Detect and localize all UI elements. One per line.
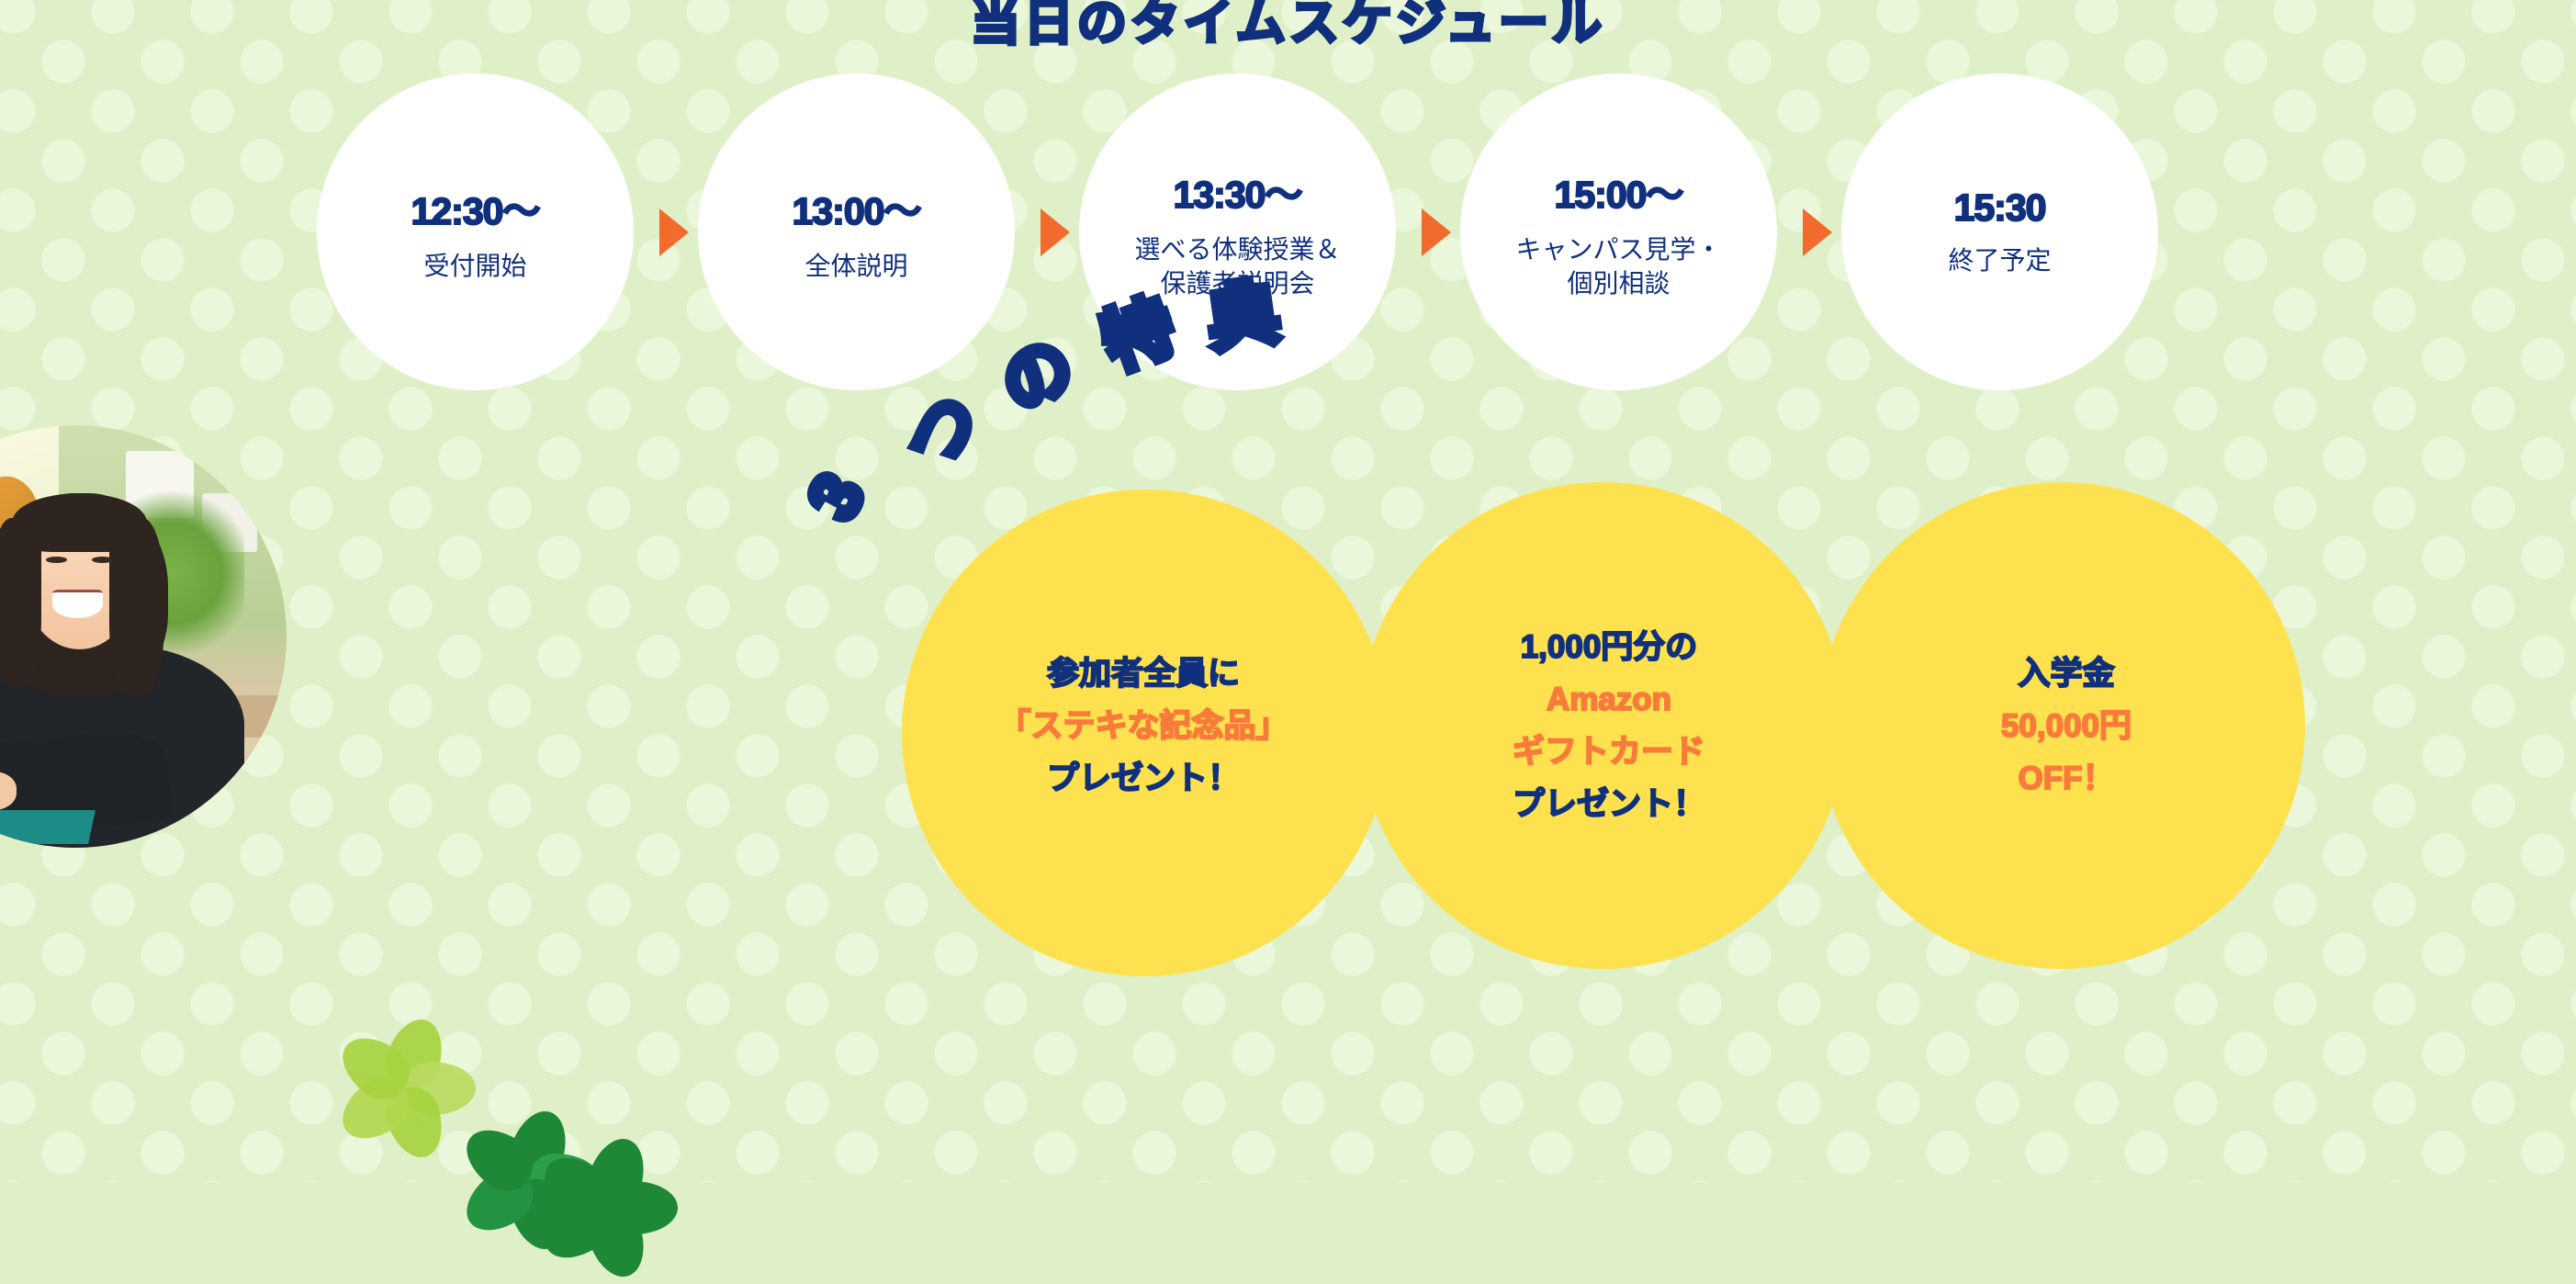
benefit-line: 50,000円 [2001,710,2132,742]
timeline-step-label: キャンパス見学・ 個別相談 [1515,233,1721,301]
timeline: 12:30〜受付開始13:00〜全体説明13:30〜選べる体験授業＆ 保護者説明… [303,73,2342,404]
benefit-line: 「ステキな記念品」 [998,710,1288,742]
timeline-step-label: 全体説明 [804,250,907,284]
timeline-step-time: 15:00〜 [1555,163,1683,219]
benefit-line: OFF！ [2019,762,2115,794]
timeline-step-label: 受付開始 [423,250,526,284]
benefit-line: プレゼント！ [1513,788,1705,820]
timeline-step-time: 12:30〜 [411,180,540,235]
benefit-3: 入学金50,000円OFF！ [1837,478,2296,974]
student-photo [0,425,287,848]
benefit-line: Amazon [1547,683,1671,715]
benefit-line: プレゼント！ [1047,762,1240,794]
timeline-step-2: 13:00〜全体説明 [698,73,1015,390]
benefit-2: 1,000円分のAmazonギフトカードプレゼント！ [1379,478,1839,974]
timeline-step-5: 15:30終了予定 [1841,73,2158,390]
clover-light-icon [331,1015,478,1162]
page-title: 当日のタイムスケジュール [0,0,2576,51]
timeline-step-4: 15:00〜キャンパス見学・ 個別相談 [1460,73,1777,390]
benefit-line: 入学金 [2018,658,2114,690]
timeline-step-label: 終了予定 [1948,244,2051,278]
benefit-line: ギフトカード [1513,736,1705,768]
triangle-right-icon [1803,208,1832,256]
benefit-line: 1,000円分の [1521,631,1698,663]
clover-dark-small-icon [551,1153,661,1263]
benefit-line: 参加者全員に [1047,658,1240,690]
benefits-heading-char: 典 [1204,278,1283,357]
triangle-right-icon [1041,208,1070,256]
timeline-step-time: 13:00〜 [793,180,921,235]
timeline-step-time: 13:30〜 [1174,163,1302,219]
triangle-right-icon [1422,208,1451,256]
triangle-right-icon [659,208,689,256]
timeline-step-1: 12:30〜受付開始 [317,73,634,390]
timeline-step-time: 15:30 [1954,186,2046,230]
benefits-heading: 3つの特典 [827,418,1304,657]
